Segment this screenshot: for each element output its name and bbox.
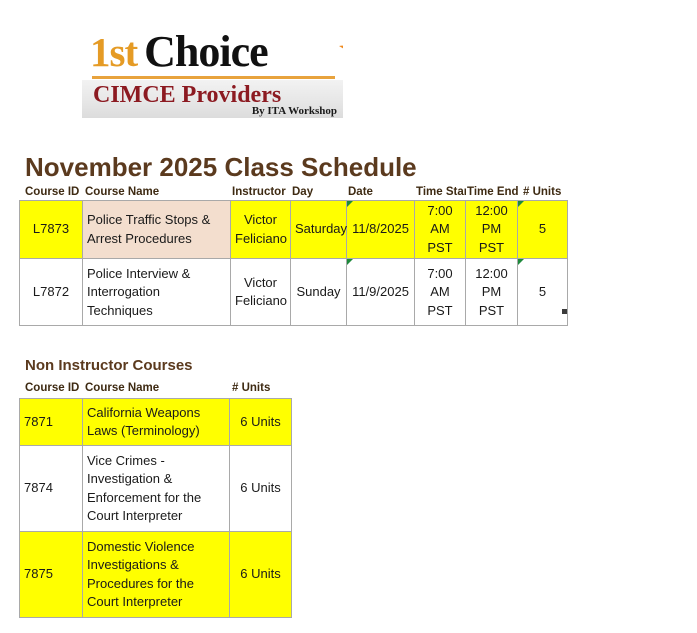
cell-course-id[interactable]: 7871 xyxy=(20,399,83,446)
non-instructor-header-units: # Units xyxy=(232,382,290,394)
non-instructor-header-course-name: Course Name xyxy=(85,382,225,394)
schedule-header-course-name: Course Name xyxy=(85,186,225,198)
cell-course-name[interactable]: Vice Crimes - Investigation & Enforcemen… xyxy=(83,446,230,532)
cell-date-text: 11/8/2025 xyxy=(352,221,409,236)
cell-course-name[interactable]: Domestic Violence Investigations & Proce… xyxy=(83,532,230,618)
cell-date[interactable]: 11/9/2025 xyxy=(347,259,415,326)
table-row[interactable]: L7872 Police Interview & Interrogation T… xyxy=(20,259,568,326)
logo-wordmark-area: 1stChoice xyxy=(82,8,343,76)
page-title: November 2025 Class Schedule xyxy=(25,152,417,183)
cell-units[interactable]: 6 Units xyxy=(230,446,292,532)
non-instructor-courses-table: 7871 California Weapons Laws (Terminolog… xyxy=(19,398,292,618)
cell-units[interactable]: 6 Units xyxy=(230,399,292,446)
schedule-header-course-id: Course ID xyxy=(25,186,85,198)
company-logo: 1stChoice CIMCE Providers By ITA Worksho… xyxy=(82,8,343,118)
schedule-header-time-end: Time End xyxy=(467,186,519,198)
logo-wordmark: 1stChoice xyxy=(90,26,268,76)
cell-units[interactable]: 5 xyxy=(518,201,568,259)
cell-instructor[interactable]: Victor Feliciano xyxy=(231,201,291,259)
cell-time-start[interactable]: 7:00 AM PST xyxy=(415,201,466,259)
cell-units[interactable]: 6 Units xyxy=(230,532,292,618)
cell-course-id[interactable]: 7875 xyxy=(20,532,83,618)
error-indicator-icon xyxy=(518,201,524,207)
cell-units-text: 5 xyxy=(539,284,546,299)
cell-date-text: 11/9/2025 xyxy=(352,284,409,299)
logo-divider-rule xyxy=(92,76,335,79)
cell-units[interactable]: 5 xyxy=(518,259,568,326)
cell-units-text: 5 xyxy=(539,221,546,236)
cell-time-end[interactable]: 12:00 PM PST xyxy=(466,259,518,326)
selection-fill-handle[interactable] xyxy=(562,309,567,314)
orange-check-icon xyxy=(337,16,343,72)
error-indicator-icon xyxy=(347,201,353,207)
schedule-header-row: Course ID Course Name Instructor Day Dat… xyxy=(0,186,697,200)
cell-course-id[interactable]: L7873 xyxy=(20,201,83,259)
section-title-non-instructor: Non Instructor Courses xyxy=(25,357,193,374)
cell-day[interactable]: Saturday xyxy=(291,201,347,259)
cell-course-name[interactable]: Police Interview & Interrogation Techniq… xyxy=(83,259,231,326)
logo-subtitle-bar: CIMCE Providers By ITA Workshop xyxy=(82,80,343,118)
table-row[interactable]: L7873 Police Traffic Stops & Arrest Proc… xyxy=(20,201,568,259)
logo-byline: By ITA Workshop xyxy=(252,105,337,117)
table-row[interactable]: 7875 Domestic Violence Investigations & … xyxy=(20,532,292,618)
non-instructor-header-course-id: Course ID xyxy=(25,382,85,394)
schedule-header-time-start: Time Star xyxy=(416,186,466,198)
cell-instructor[interactable]: Victor Feliciano xyxy=(231,259,291,326)
error-indicator-icon xyxy=(518,259,524,265)
cell-course-name[interactable]: California Weapons Laws (Terminology) xyxy=(83,399,230,446)
cell-course-id[interactable]: L7872 xyxy=(20,259,83,326)
class-schedule-table: L7873 Police Traffic Stops & Arrest Proc… xyxy=(19,200,568,326)
cell-date[interactable]: 11/8/2025 xyxy=(347,201,415,259)
error-indicator-icon xyxy=(347,259,353,265)
cell-course-id[interactable]: 7874 xyxy=(20,446,83,532)
cell-day[interactable]: Sunday xyxy=(291,259,347,326)
schedule-header-date: Date xyxy=(348,186,408,198)
table-row[interactable]: 7871 California Weapons Laws (Terminolog… xyxy=(20,399,292,446)
non-instructor-header-row: Course ID Course Name # Units xyxy=(0,382,697,396)
cell-time-end[interactable]: 12:00 PM PST xyxy=(466,201,518,259)
logo-brand-second: Choice xyxy=(144,27,268,76)
schedule-header-day: Day xyxy=(292,186,342,198)
table-row[interactable]: 7874 Vice Crimes - Investigation & Enfor… xyxy=(20,446,292,532)
schedule-header-units: # Units xyxy=(523,186,569,198)
logo-brand-first: 1st xyxy=(90,29,137,75)
schedule-header-instructor: Instructor xyxy=(232,186,290,198)
cell-course-name[interactable]: Police Traffic Stops & Arrest Procedures xyxy=(83,201,231,259)
cell-time-start[interactable]: 7:00 AM PST xyxy=(415,259,466,326)
